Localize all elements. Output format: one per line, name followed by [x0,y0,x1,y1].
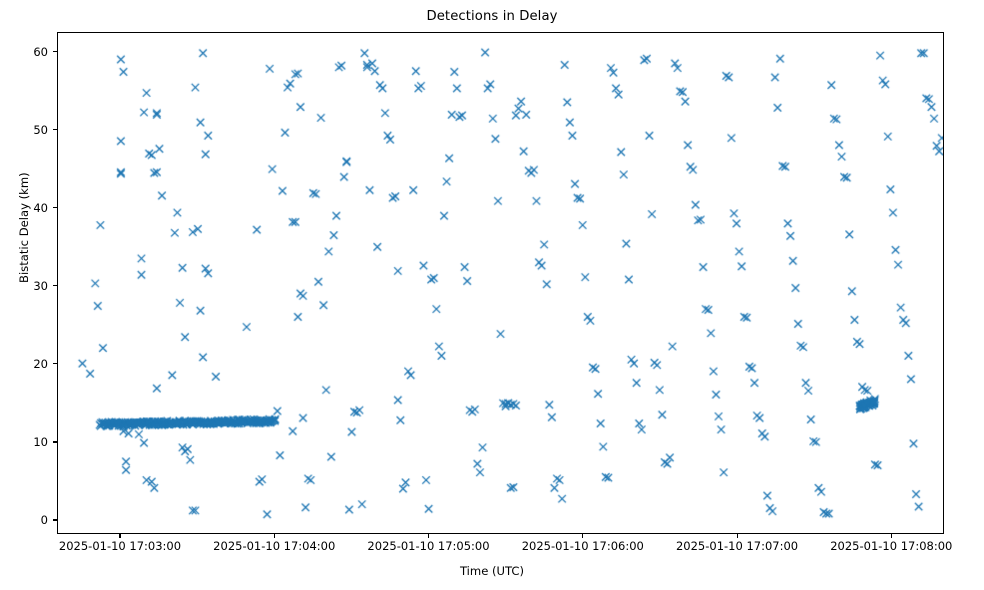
x-axis-label: Time (UTC) [0,564,984,578]
y-tick-mark [53,207,57,208]
x-tick-mark [274,534,275,538]
y-tick-mark [53,441,57,442]
y-tick-mark [53,363,57,364]
y-tick-label: 20 [0,357,48,371]
x-tick-mark [119,534,120,538]
y-tick-mark [53,129,57,130]
x-tick-label: 2025-01-10 17:07:00 [676,539,798,553]
y-axis-label: Bistatic Delay (km) [17,172,31,283]
x-tick-label: 2025-01-10 17:03:00 [59,539,181,553]
plot-area [57,32,944,534]
y-tick-label: 50 [0,123,48,137]
scatter-figure: Detections in Delay 0102030405060 2025-0… [0,0,984,590]
x-tick-label: 2025-01-10 17:04:00 [213,539,335,553]
x-tick-label: 2025-01-10 17:05:00 [367,539,489,553]
y-tick-mark [53,285,57,286]
x-tick-mark [428,534,429,538]
y-tick-mark [53,51,57,52]
x-tick-mark [582,534,583,538]
x-tick-mark [737,534,738,538]
y-tick-label: 0 [0,513,48,527]
x-tick-mark [891,534,892,538]
scatter-canvas [58,33,943,533]
page-title: Detections in Delay [0,9,984,24]
y-tick-label: 60 [0,45,48,59]
y-tick-mark [53,519,57,520]
x-tick-label: 2025-01-10 17:06:00 [522,539,644,553]
y-tick-label: 10 [0,435,48,449]
x-tick-label: 2025-01-10 17:08:00 [830,539,952,553]
